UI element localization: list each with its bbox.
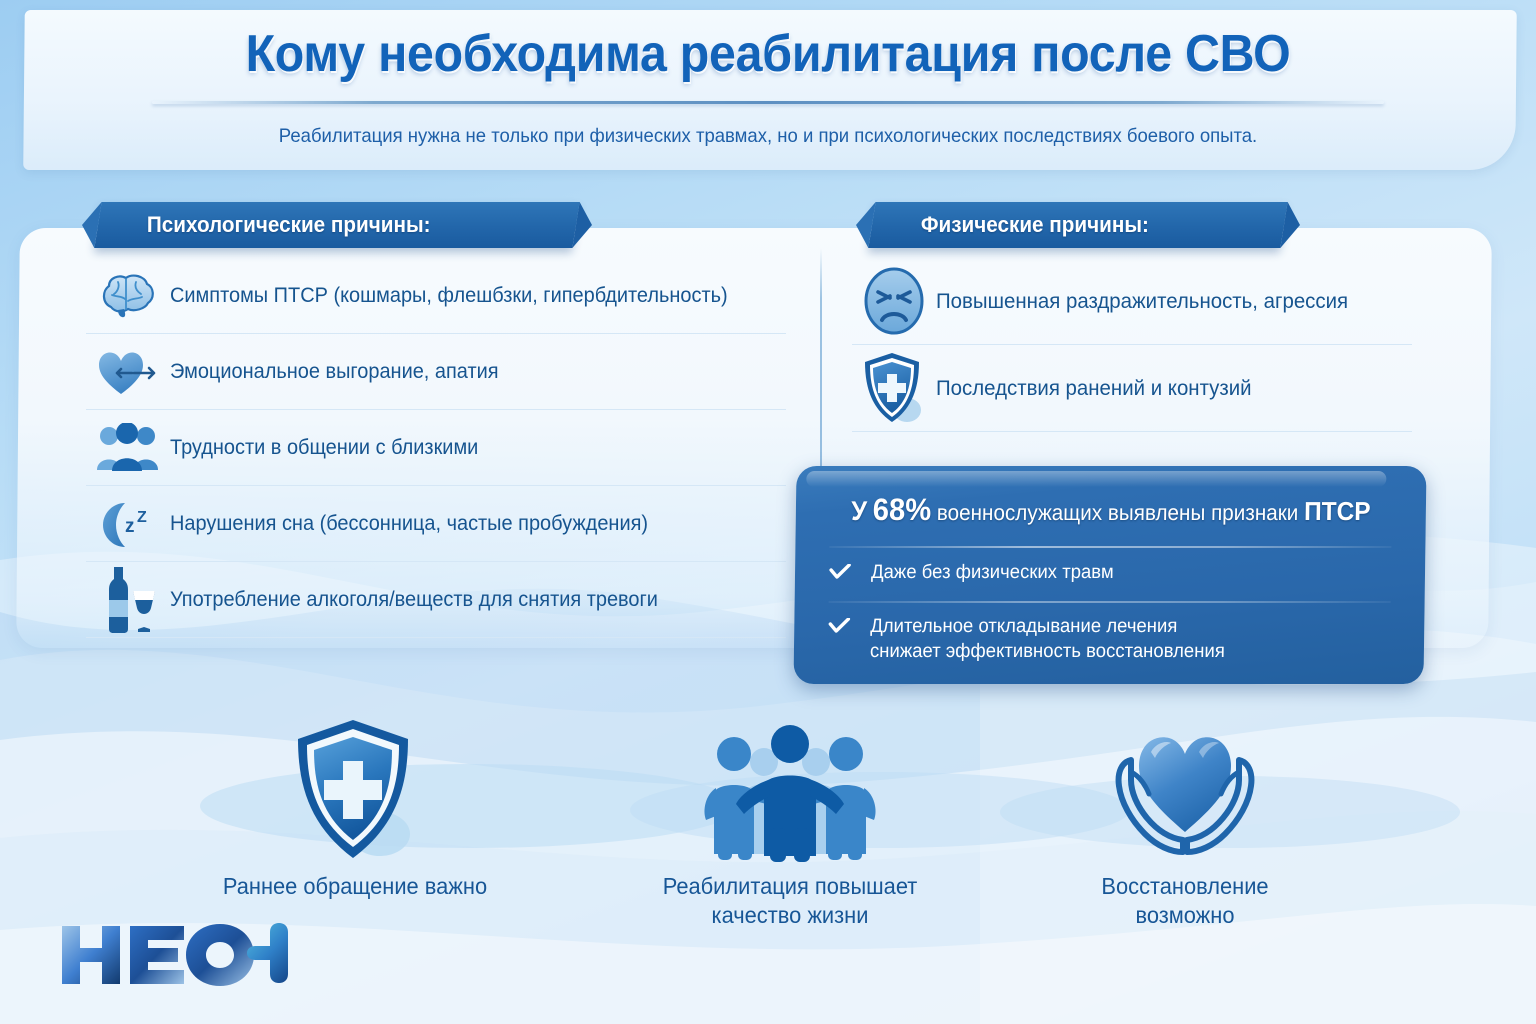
list-item: z Z Нарушения сна (бессонница, частые пр… [86, 486, 786, 562]
check-icon [828, 614, 870, 640]
page-subtitle: Реабилитация нужна не только при физичес… [38, 125, 1497, 148]
list-item-label: Трудности в общении с близкими [170, 436, 478, 460]
angry-face-icon [852, 265, 936, 337]
section-header-psychological: Психологические причины: [94, 202, 579, 248]
svg-text:Z: Z [137, 509, 147, 526]
feature-label-line: Реабилитация повышает [629, 872, 952, 901]
list-item-label: Симптомы ПТСР (кошмары, флешбзки, гиперб… [170, 284, 728, 308]
section-header-physical: Физические причины: [868, 202, 1287, 248]
brain-icon [86, 260, 170, 332]
stat-lead: У [851, 496, 867, 526]
heart-drain-icon [86, 336, 170, 408]
stat-gloss [806, 471, 1386, 487]
neo-plus-logo [58, 918, 288, 990]
list-item: Трудности в общении с близкими [86, 410, 786, 486]
list-item: Употребление алкоголя/веществ для снятия… [86, 562, 786, 638]
physical-causes-list: Повышенная раздражительность, агрессия П… [852, 258, 1412, 432]
feature-label: Раннее обращение важно [213, 872, 498, 901]
stat-headline: У 68% военнослужащих выявлены признаки П… [815, 492, 1408, 528]
shield-cross-icon [852, 352, 936, 424]
stat-headline-tail: ПТСР [1304, 496, 1371, 526]
stat-point-line: Длительное откладывание лечения [870, 614, 1225, 639]
feature-label-line: Раннее обращение важно [213, 872, 498, 901]
svg-text:z: z [125, 516, 135, 537]
moon-sleep-icon: z Z [86, 488, 170, 560]
bottle-glass-icon [86, 564, 170, 636]
stat-callout-box: У 68% военнослужащих выявлены признаки П… [793, 466, 1426, 684]
stat-point: Даже без физических травм [829, 560, 1391, 586]
infographic-root: Кому необходима реабилитация после СВО Р… [0, 0, 1536, 1024]
feature-label: Реабилитация повышает качество жизни [629, 872, 952, 930]
list-item: Симптомы ПТСР (кошмары, флешбзки, гиперб… [86, 258, 786, 334]
stat-divider [829, 546, 1391, 548]
people-group-icon [620, 712, 960, 862]
header-content: Кому необходима реабилитация после СВО Р… [0, 0, 1536, 185]
list-item: Последствия ранений и контузий [852, 345, 1412, 432]
feature-label-line: Восстановление [1038, 872, 1333, 901]
shield-cross-icon [205, 712, 505, 862]
feature-label: Восстановление возможно [1038, 872, 1333, 930]
stat-divider-2 [829, 601, 1391, 603]
stat-percent: 68% [873, 492, 932, 527]
feature-recovery-possible: Восстановление возможно [1030, 712, 1340, 930]
list-item-label: Последствия ранений и контузий [936, 376, 1252, 401]
list-item-label: Эмоциональное выгорание, апатия [170, 360, 499, 384]
feature-early-help: Раннее обращение важно [205, 712, 505, 901]
section-header-psychological-label: Психологические причины: [98, 212, 431, 238]
feature-label-line: качество жизни [629, 901, 952, 930]
stat-headline-rest: военнослужащих выявлены признаки [931, 500, 1304, 525]
list-item: Эмоциональное выгорание, апатия [86, 334, 786, 410]
hands-heart-icon [1030, 712, 1340, 862]
list-item-label: Повышенная раздражительность, агрессия [936, 289, 1348, 314]
list-item: Повышенная раздражительность, агрессия [852, 258, 1412, 345]
section-header-physical-label: Физические причины: [872, 212, 1149, 238]
check-icon [829, 560, 871, 586]
list-item-label: Нарушения сна (бессонница, частые пробуж… [170, 512, 648, 536]
stat-point-line: снижает эффективность восстановления [870, 639, 1225, 664]
stat-point-label: Длительное откладывание лечения снижает … [870, 614, 1226, 664]
title-divider [152, 101, 1384, 104]
stat-point: Длительное откладывание лечения снижает … [828, 614, 1391, 664]
page-title: Кому необходима реабилитация после СВО [54, 24, 1482, 84]
feature-quality-of-life: Реабилитация повышает качество жизни [620, 712, 960, 930]
people-group-icon [86, 412, 170, 484]
stat-point-label: Даже без физических травм [871, 560, 1114, 585]
feature-label-line: возможно [1038, 901, 1333, 930]
psychological-causes-list: Симптомы ПТСР (кошмары, флешбзки, гиперб… [86, 258, 786, 638]
list-item-label: Употребление алкоголя/веществ для снятия… [170, 588, 658, 612]
